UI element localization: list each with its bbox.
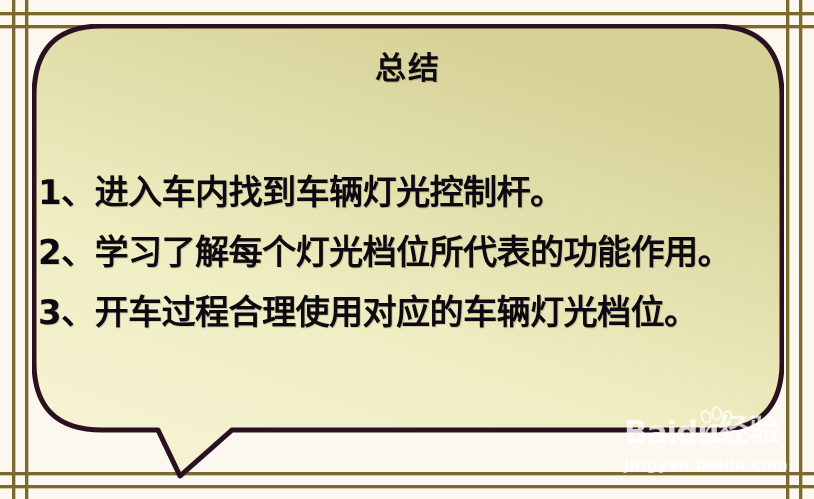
summary-list: 1、进入车内找到车辆灯光控制杆。 2、学习了解每个灯光档位所代表的功能作用。 3…: [38, 176, 778, 330]
frame-line-right-outer: [799, 0, 802, 499]
slide-canvas: 总结 1、进入车内找到车辆灯光控制杆。 2、学习了解每个灯光档位所代表的功能作用…: [0, 0, 814, 499]
frame-line-right-inner: [786, 0, 789, 499]
list-item: 1、进入车内找到车辆灯光控制杆。: [38, 176, 778, 210]
list-item: 2、学习了解每个灯光档位所代表的功能作用。: [38, 236, 778, 270]
page-title: 总结: [46, 52, 770, 88]
frame-line-top-outer: [0, 12, 814, 15]
list-item: 3、开车过程合理使用对应的车辆灯光档位。: [38, 296, 778, 330]
summary-speech-bubble: 总结 1、进入车内找到车辆灯光控制杆。 2、学习了解每个灯光档位所代表的功能作用…: [32, 24, 784, 480]
frame-line-left-outer: [12, 0, 15, 499]
frame-line-bottom-outer: [0, 485, 814, 488]
frame-line-left-inner: [25, 0, 28, 499]
bubble-content: 总结 1、进入车内找到车辆灯光控制杆。 2、学习了解每个灯光档位所代表的功能作用…: [32, 24, 784, 434]
